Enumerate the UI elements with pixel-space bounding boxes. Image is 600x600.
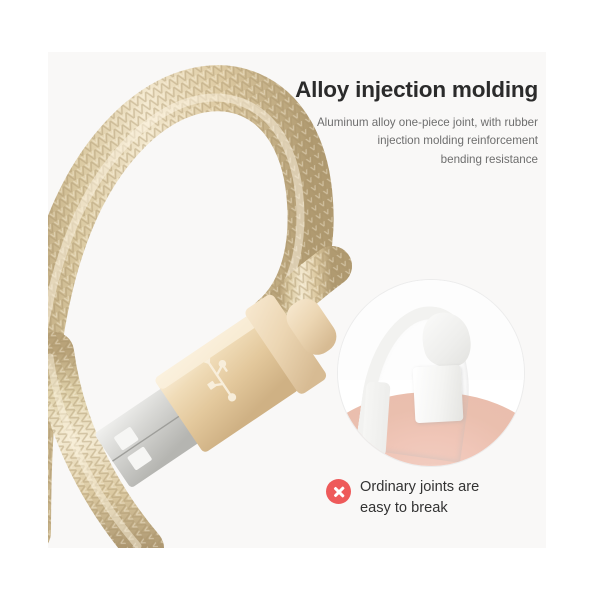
bent-cable-plug: [413, 364, 464, 422]
description-line-3: bending resistance: [263, 151, 538, 169]
page-title: Alloy injection molding: [263, 77, 538, 103]
feature-text-block: Alloy injection molding Aluminum alloy o…: [263, 77, 538, 169]
warning-line-1: Ordinary joints are: [360, 477, 479, 498]
warning-line-2: easy to break: [360, 498, 479, 519]
description-line-1: Aluminum alloy one-piece joint, with rub…: [263, 114, 538, 132]
description-line-2: injection molding reinforcement: [263, 132, 538, 150]
warning-callout: Ordinary joints are easy to break: [326, 477, 541, 518]
bending-demo-inset: [338, 280, 524, 466]
usb-connector: [84, 275, 355, 504]
x-circle-icon: [326, 479, 351, 504]
product-image: Alloy injection molding Aluminum alloy o…: [0, 0, 600, 600]
warning-text: Ordinary joints are easy to break: [360, 477, 479, 518]
product-photo-panel: Alloy injection molding Aluminum alloy o…: [48, 52, 546, 548]
